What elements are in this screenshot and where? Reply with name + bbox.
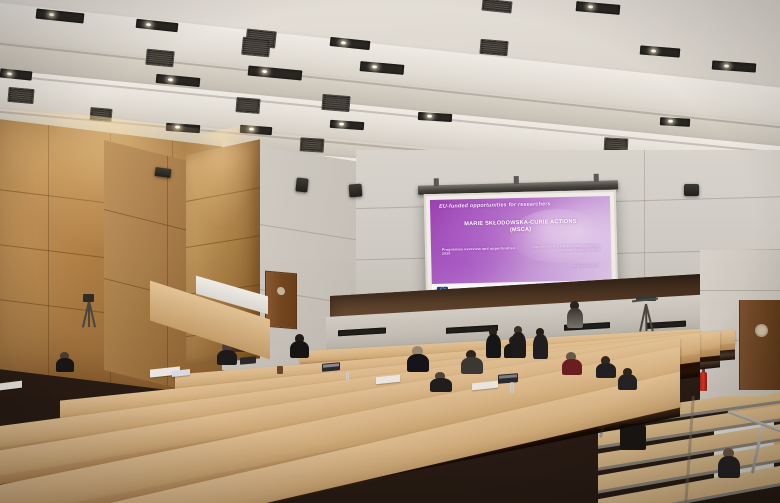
- door-right[interactable]: [739, 300, 780, 390]
- wall-speaker-center: [349, 184, 363, 198]
- camera-tripod-left: [78, 294, 100, 328]
- ceiling-vent: [145, 49, 174, 68]
- attendee-9: [56, 352, 74, 372]
- ceiling-light-fixture: [660, 117, 690, 127]
- laptop: [240, 356, 256, 364]
- camera-tripod-stage: [632, 296, 660, 332]
- paper-handout: [0, 381, 22, 391]
- attendee-6: [562, 352, 582, 375]
- attendee-11: [430, 372, 452, 392]
- wall-speaker-right: [684, 184, 699, 196]
- ceiling-vent: [7, 87, 34, 104]
- slide-subtitle: Programme overview and opportunities 202…: [442, 247, 518, 257]
- fire-extinguisher: [700, 372, 707, 391]
- slide-title: EU-funded opportunities for researchers: [439, 202, 551, 211]
- presentation-slide: EU-funded opportunities for researchers …: [430, 196, 612, 285]
- attendee-3: [290, 334, 309, 358]
- laptop: [498, 373, 518, 384]
- coffee-cup: [277, 366, 283, 374]
- attendee-7: [596, 356, 616, 378]
- water-bottle: [510, 382, 514, 393]
- slide-main-heading: MARIE SKŁODOWSKA-CURIE ACTIONS (MSCA): [457, 219, 583, 235]
- ceiling-light-fixture: [640, 45, 681, 57]
- screen-hanger: [514, 176, 519, 184]
- ceiling-light-fixture: [576, 1, 621, 15]
- standing-person-3: [532, 328, 549, 359]
- slide-presenter: Angelika Kalocka, PhD European Commissio…: [528, 245, 600, 253]
- attendee-12: [718, 448, 740, 478]
- ceiling-vent: [481, 0, 512, 14]
- lecture-hall-photo: EU-funded opportunities for researchers …: [0, 0, 780, 503]
- ceiling-vent: [235, 97, 260, 114]
- ceiling-vent: [89, 107, 112, 122]
- wall-speaker-left: [295, 177, 308, 192]
- ceiling-vent: [321, 94, 350, 112]
- slide-date: 26 November 2019: [573, 264, 599, 268]
- laptop: [322, 362, 340, 372]
- screen-hanger: [594, 174, 599, 182]
- attendee-4: [407, 346, 429, 372]
- ceiling-vent: [300, 137, 325, 152]
- ceiling-vent: [479, 39, 508, 56]
- ceiling-vent: [241, 37, 271, 58]
- standing-person-1: [485, 328, 502, 358]
- attendee-10: [618, 368, 637, 390]
- person-on-stage: [566, 301, 584, 328]
- standing-person-2: [510, 326, 527, 358]
- ceiling-light-fixture: [712, 60, 757, 72]
- water-bottle: [346, 372, 349, 381]
- screen-hanger: [434, 178, 439, 186]
- attendee-5: [461, 350, 483, 374]
